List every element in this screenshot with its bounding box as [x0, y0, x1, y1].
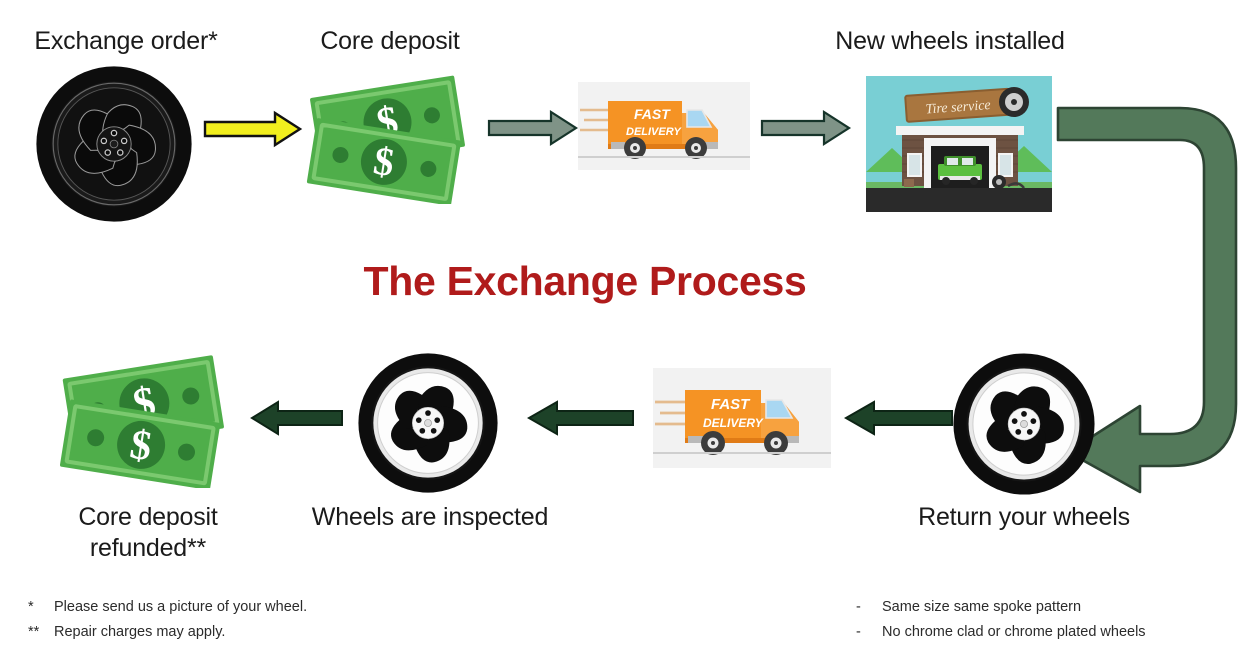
step-label-new-wheels-installed: New wheels installed: [800, 26, 1100, 57]
footnote-left-row: ** Repair charges may apply.: [28, 620, 307, 645]
footnote-mark: -: [856, 620, 882, 645]
fast-delivery-truck-icon-inbound: FAST DELIVERY: [653, 368, 831, 468]
step-label-core-deposit-refunded: Core deposit refunded**: [38, 502, 258, 565]
truck-text-delivery: DELIVERY: [626, 126, 682, 138]
black-wheel-icon: [36, 66, 192, 222]
arrow-deposit-to-truck: [487, 110, 579, 146]
fast-delivery-truck-icon-outbound: FAST DELIVERY: [578, 82, 750, 170]
footnote-mark: **: [28, 620, 54, 645]
page-title: The Exchange Process: [0, 258, 1170, 305]
truck-text-fast: FAST: [634, 106, 671, 122]
step-label-exchange-order: Exchange order*: [16, 26, 236, 57]
step-label-wheels-are-inspected: Wheels are inspected: [300, 502, 560, 533]
footnote-text: No chrome clad or chrome plated wheels: [882, 620, 1146, 645]
arrow-order-to-deposit: [203, 110, 303, 148]
footnote-mark: *: [28, 595, 54, 620]
footnote-text: Repair charges may apply.: [54, 620, 225, 645]
footnote-left-row: * Please send us a picture of your wheel…: [28, 595, 307, 620]
arrow-return-to-truck2: [842, 400, 954, 436]
svg-text:FAST: FAST: [711, 396, 751, 413]
svg-text:DELIVERY: DELIVERY: [703, 416, 764, 430]
footnote-right-row: - No chrome clad or chrome plated wheels: [856, 620, 1146, 645]
arrow-truck2-to-inspect: [525, 400, 635, 436]
refund-label-line1: Core deposit: [38, 502, 258, 533]
exchange-process-infographic: Exchange order* Core deposit New wheels …: [0, 0, 1250, 666]
tire-service-shop-icon: Tire service: [866, 76, 1052, 212]
refund-label-line2: refunded**: [38, 533, 258, 564]
footnote-text: Same size same spoke pattern: [882, 595, 1081, 620]
footnote-text: Please send us a picture of your wheel.: [54, 595, 307, 620]
step-label-core-deposit: Core deposit: [300, 26, 480, 57]
footnotes-right: - Same size same spoke pattern - No chro…: [856, 595, 1146, 645]
footnote-right-row: - Same size same spoke pattern: [856, 595, 1146, 620]
arrow-truck-to-shop: [760, 110, 852, 146]
cash-icon-refund: $ $: [58, 352, 238, 488]
cash-icon-core-deposit: $ $: [305, 72, 477, 204]
silver-wheel-icon-return: [952, 352, 1096, 496]
silver-wheel-icon-inspected: [357, 352, 499, 494]
arrow-inspect-to-refund: [248, 400, 344, 436]
footnote-mark: -: [856, 595, 882, 620]
footnotes-left: * Please send us a picture of your wheel…: [28, 595, 307, 645]
step-label-return-your-wheels: Return your wheels: [900, 502, 1148, 533]
